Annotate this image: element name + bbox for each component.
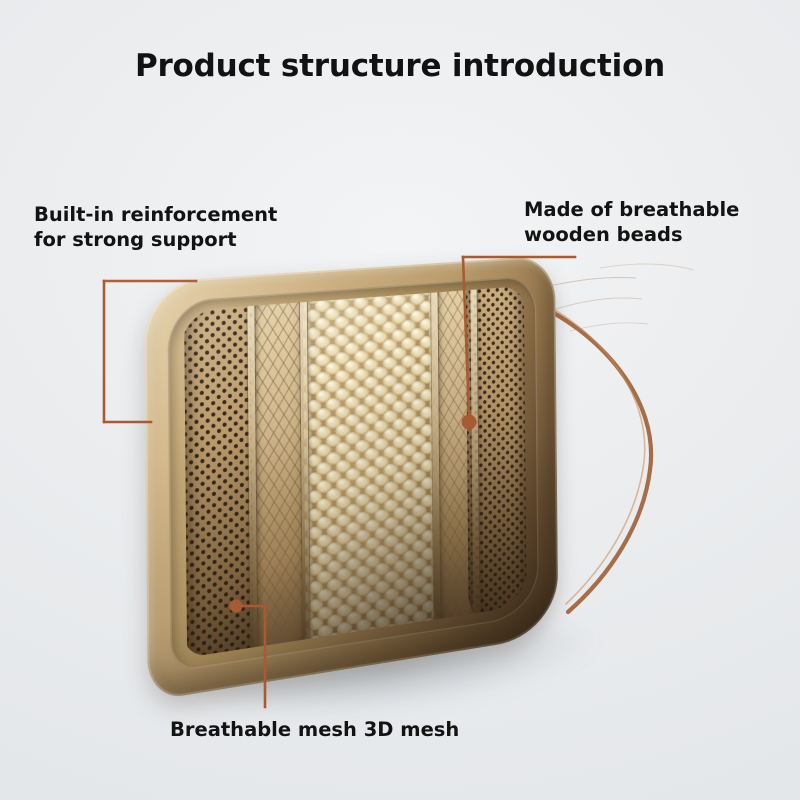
cushion-panels xyxy=(180,286,530,658)
infographic-canvas: Product structure introduction xyxy=(0,0,800,800)
callout-label-wooden-beads: Made of breathable wooden beads xyxy=(524,198,739,248)
wooden-bead-field xyxy=(303,286,437,653)
bead-field-shading xyxy=(303,286,437,653)
lattice-panel-left xyxy=(250,289,307,658)
lumbar-cushion xyxy=(144,255,558,701)
product-illustration xyxy=(0,0,800,800)
callout-label-breathable-mesh: Breathable mesh 3D mesh xyxy=(170,718,459,743)
callout-label-reinforcement: Built-in reinforcement for strong suppor… xyxy=(34,203,277,253)
